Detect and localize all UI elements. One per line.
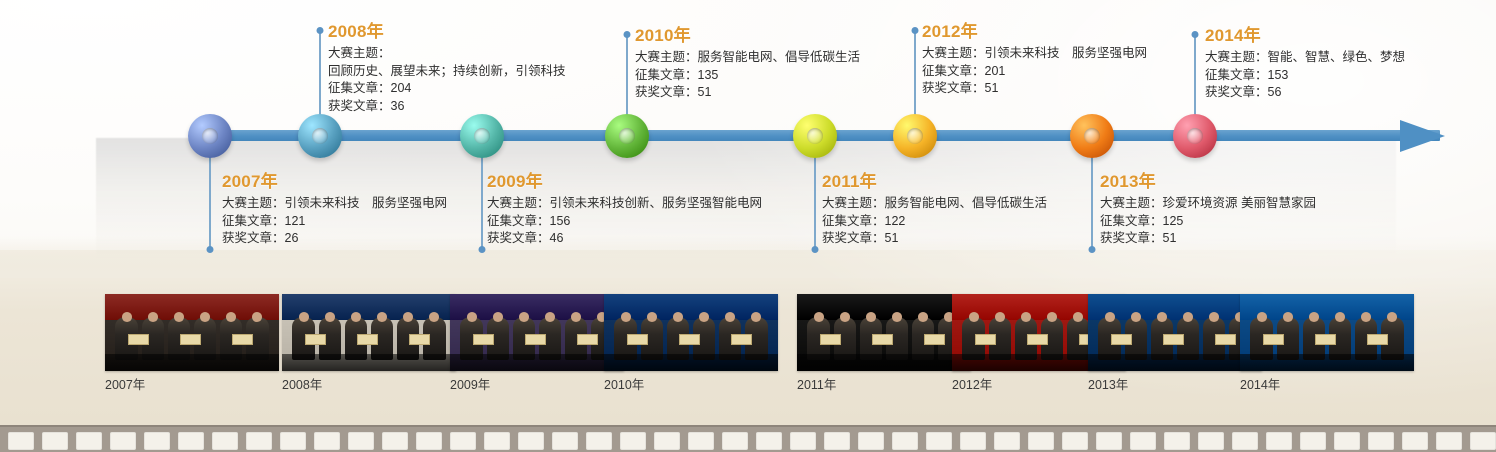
filmstrip-perforation [518, 432, 544, 450]
gallery-photo[interactable] [105, 294, 279, 371]
photo-stage-floor [604, 354, 778, 371]
photo-stage-floor [1240, 354, 1414, 371]
entry-awarded-count: 获奖文章：36 [328, 98, 566, 116]
filmstrip-perforation [552, 432, 578, 450]
filmstrip-perforation [994, 432, 1020, 450]
gallery-item-2011[interactable]: 2011年 [797, 294, 971, 393]
entry-awarded-count: 获奖文章：46 [487, 230, 762, 248]
filmstrip-perforation [246, 432, 272, 450]
photo-certificate [357, 334, 378, 344]
entry-awarded-count: 获奖文章：26 [222, 230, 447, 248]
photo-stage-floor [105, 354, 279, 371]
timeline-entry-2012: 2012年大赛主题：引领未来科技 服务坚强电网征集文章：201获奖文章：51 [922, 22, 1147, 98]
filmstrip-perforation [1096, 432, 1122, 450]
entry-connector-stem [1091, 154, 1093, 250]
photo-certificate [1315, 334, 1336, 344]
entry-submitted-count: 征集文章：125 [1100, 213, 1316, 231]
filmstrip-perforation [76, 432, 102, 450]
timeline-node-2008[interactable] [298, 114, 342, 158]
gallery-caption: 2013年 [1088, 378, 1262, 393]
entry-year-label: 2013年 [1100, 172, 1316, 192]
photo-certificate [577, 334, 598, 344]
filmstrip-perforation [858, 432, 884, 450]
filmstrip-perforation [586, 432, 612, 450]
photo-stage-floor [282, 354, 456, 371]
gallery-item-2010[interactable]: 2010年 [604, 294, 778, 393]
timeline-entry-2010: 2010年大赛主题：服务智能电网、倡导低碳生活征集文章：135获奖文章：51 [635, 26, 860, 102]
filmstrip-perforation [212, 432, 238, 450]
filmstrip-perforation [1198, 432, 1224, 450]
photo-certificate [1215, 334, 1236, 344]
entry-submitted-count: 征集文章：122 [822, 213, 1047, 231]
gallery-item-2009[interactable]: 2009年 [450, 294, 624, 393]
photo-scene [1088, 294, 1262, 371]
timeline-arrow-icon [1400, 120, 1445, 152]
photo-certificate [305, 334, 326, 344]
filmstrip-perforation [722, 432, 748, 450]
photo-certificate [180, 334, 201, 344]
entry-connector-stem [481, 154, 483, 250]
entry-year-label: 2011年 [822, 172, 1047, 192]
photo-scene [450, 294, 624, 371]
gallery-caption: 2010年 [604, 378, 778, 393]
entry-submitted-count: 征集文章：153 [1205, 67, 1405, 85]
filmstrip-perforation [110, 432, 136, 450]
filmstrip-perforation [1028, 432, 1054, 450]
filmstrip-perforation [382, 432, 408, 450]
photo-certificate [1367, 334, 1388, 344]
filmstrip-perforation [1266, 432, 1292, 450]
filmstrip-perforation [688, 432, 714, 450]
entry-connector-stem [1194, 34, 1196, 118]
photo-certificate [1163, 334, 1184, 344]
filmstrip-perforation [42, 432, 68, 450]
entry-theme-text: 大赛主题：服务智能电网、倡导低碳生活 [822, 195, 1047, 213]
timeline-node-2013[interactable] [1070, 114, 1114, 158]
filmstrip-perforation [144, 432, 170, 450]
timeline-entry-2009: 2009年大赛主题：引领未来科技创新、服务坚强智能电网征集文章：156获奖文章：… [487, 172, 762, 248]
filmstrip-perforation [8, 432, 34, 450]
entry-connector-stem [626, 34, 628, 118]
entry-year-label: 2010年 [635, 26, 860, 46]
photo-certificate [473, 334, 494, 344]
photo-certificate [409, 334, 430, 344]
entry-year-label: 2009年 [487, 172, 762, 192]
filmstrip-perforation [1062, 432, 1088, 450]
entry-theme-text: 大赛主题：引领未来科技 服务坚强电网 [922, 45, 1147, 63]
timeline-infographic: 2007年大赛主题：引领未来科技 服务坚强电网征集文章：121获奖文章：2620… [0, 0, 1496, 452]
photo-scene [797, 294, 971, 371]
filmstrip-perforation [280, 432, 306, 450]
photo-certificate [731, 334, 752, 344]
entry-awarded-count: 获奖文章：51 [922, 80, 1147, 98]
timeline-node-2007[interactable] [188, 114, 232, 158]
entry-theme-text: 大赛主题：智能、智慧、绿色、梦想 [1205, 49, 1405, 67]
filmstrip-perforation [1232, 432, 1258, 450]
timeline-node-2012[interactable] [893, 114, 937, 158]
filmstrip-perforation [790, 432, 816, 450]
entry-awarded-count: 获奖文章：51 [822, 230, 1047, 248]
entry-year-label: 2014年 [1205, 26, 1405, 46]
stem-cap-dot [317, 27, 324, 34]
photo-certificate [525, 334, 546, 344]
gallery-caption: 2009年 [450, 378, 624, 393]
entry-theme-text: 大赛主题：珍爱环境资源 美丽智慧家园 [1100, 195, 1316, 213]
filmstrip-perforation [620, 432, 646, 450]
filmstrip-perforation [484, 432, 510, 450]
gallery-item-2014[interactable]: 2014年 [1240, 294, 1414, 393]
photo-certificate [924, 334, 945, 344]
gallery-caption: 2014年 [1240, 378, 1414, 393]
photo-certificate [1263, 334, 1284, 344]
photo-certificate [128, 334, 149, 344]
entry-year-label: 2012年 [922, 22, 1147, 42]
photo-scene [282, 294, 456, 371]
gallery-photo[interactable] [1088, 294, 1262, 371]
timeline-entry-2008: 2008年大赛主题：回顾历史、展望未来；持续创新，引领科技征集文章：204获奖文… [328, 22, 566, 115]
timeline-node-2010[interactable] [605, 114, 649, 158]
entry-submitted-count: 征集文章：135 [635, 67, 860, 85]
timeline-node-2009[interactable] [460, 114, 504, 158]
entry-awarded-count: 获奖文章：56 [1205, 84, 1405, 102]
gallery-caption: 2011年 [797, 378, 971, 393]
timeline-entry-2014: 2014年大赛主题：智能、智慧、绿色、梦想征集文章：153获奖文章：56 [1205, 26, 1405, 102]
entry-submitted-count: 征集文章：201 [922, 63, 1147, 81]
entry-awarded-count: 获奖文章：51 [635, 84, 860, 102]
stem-cap-dot [1089, 246, 1096, 253]
entry-submitted-count: 征集文章：121 [222, 213, 447, 231]
entry-theme-label: 大赛主题： [328, 45, 566, 63]
entry-connector-stem [814, 154, 816, 250]
entry-year-label: 2007年 [222, 172, 447, 192]
timeline-entry-2013: 2013年大赛主题：珍爱环境资源 美丽智慧家园征集文章：125获奖文章：51 [1100, 172, 1316, 248]
stem-cap-dot [912, 27, 919, 34]
stem-cap-dot [1192, 31, 1199, 38]
entry-theme-text: 回顾历史、展望未来；持续创新，引领科技 [328, 63, 566, 81]
entry-theme-text: 大赛主题：引领未来科技创新、服务坚强智能电网 [487, 195, 762, 213]
timeline-entry-2011: 2011年大赛主题：服务智能电网、倡导低碳生活征集文章：122获奖文章：51 [822, 172, 1047, 248]
gallery-photo[interactable] [1240, 294, 1414, 371]
filmstrip-perforation [1164, 432, 1190, 450]
entry-year-label: 2008年 [328, 22, 566, 42]
filmstrip-perforation [450, 432, 476, 450]
gallery-caption: 2007年 [105, 378, 279, 393]
entry-connector-stem [914, 30, 916, 118]
timeline-entry-2007: 2007年大赛主题：引领未来科技 服务坚强电网征集文章：121获奖文章：26 [222, 172, 447, 248]
photo-certificate [872, 334, 893, 344]
entry-submitted-count: 征集文章：204 [328, 80, 566, 98]
filmstrip-perforation [960, 432, 986, 450]
filmstrip-perforation [1402, 432, 1428, 450]
filmstrip-perforation [178, 432, 204, 450]
entry-awarded-count: 获奖文章：51 [1100, 230, 1316, 248]
filmstrip-perforation [824, 432, 850, 450]
filmstrip-perforation [314, 432, 340, 450]
stem-cap-dot [479, 246, 486, 253]
stem-cap-dot [207, 246, 214, 253]
photo-certificate [1111, 334, 1132, 344]
filmstrip-perforation [1130, 432, 1156, 450]
gallery-photo[interactable] [604, 294, 778, 371]
filmstrip-perforation [892, 432, 918, 450]
filmstrip-perforation [416, 432, 442, 450]
photo-certificate [232, 334, 253, 344]
photo-certificate [975, 334, 996, 344]
stem-cap-dot [812, 246, 819, 253]
gallery-photo[interactable] [450, 294, 624, 371]
gallery-photo[interactable] [282, 294, 456, 371]
filmstrip-perforation [1470, 432, 1496, 450]
photo-certificate [627, 334, 648, 344]
photo-scene [1240, 294, 1414, 371]
filmstrip-perforation [1334, 432, 1360, 450]
gallery-item-2013[interactable]: 2013年 [1088, 294, 1262, 393]
photo-scene [105, 294, 279, 371]
timeline-node-2014[interactable] [1173, 114, 1217, 158]
entry-submitted-count: 征集文章：156 [487, 213, 762, 231]
photo-stage-floor [1088, 354, 1262, 371]
entry-connector-stem [319, 30, 321, 118]
photo-stage-floor [797, 354, 971, 371]
gallery-caption: 2008年 [282, 378, 456, 393]
filmstrip-footer [0, 425, 1496, 452]
gallery-item-2008[interactable]: 2008年 [282, 294, 456, 393]
photo-stage-floor [450, 354, 624, 371]
gallery-photo[interactable] [797, 294, 971, 371]
stem-cap-dot [624, 31, 631, 38]
filmstrip-perforation [926, 432, 952, 450]
filmstrip-perforation [654, 432, 680, 450]
photo-scene [604, 294, 778, 371]
entry-theme-text: 大赛主题：服务智能电网、倡导低碳生活 [635, 49, 860, 67]
entry-connector-stem [209, 154, 211, 250]
photo-certificate [820, 334, 841, 344]
photo-certificate [1027, 334, 1048, 344]
photo-certificate [679, 334, 700, 344]
filmstrip-perforation [1436, 432, 1462, 450]
gallery-item-2007[interactable]: 2007年 [105, 294, 279, 393]
filmstrip-perforation [348, 432, 374, 450]
timeline-node-2011[interactable] [793, 114, 837, 158]
entry-theme-text: 大赛主题：引领未来科技 服务坚强电网 [222, 195, 447, 213]
filmstrip-perforation [1300, 432, 1326, 450]
filmstrip-perforation [756, 432, 782, 450]
filmstrip-perforation [1368, 432, 1394, 450]
